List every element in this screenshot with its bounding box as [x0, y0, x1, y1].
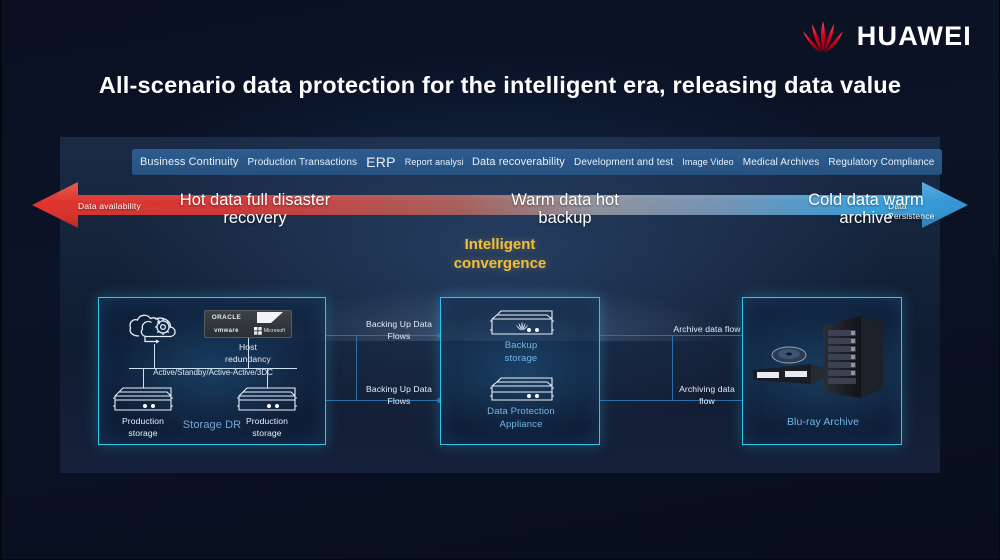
- tag-business-continuity[interactable]: Business Continuity: [140, 156, 239, 168]
- tag-medical-archives[interactable]: Medical Archives: [743, 157, 820, 168]
- tag-group-left: Business Continuity Production Transacti…: [132, 149, 476, 175]
- band-segment-warm: Warm data hot backup: [480, 191, 650, 227]
- slide-canvas: HUAWEI All-scenario data protection for …: [0, 0, 1000, 560]
- archive-rack-icon: [821, 316, 885, 398]
- vendor-logo-microsoft: Microsoft: [248, 324, 291, 337]
- label-blu-ray-archive: Blu-ray Archive: [761, 416, 885, 429]
- backup-storage-line1: Backup: [505, 340, 538, 351]
- vendor-logo-box: ORACLE vmware: [204, 310, 292, 338]
- connector-left-vertical: [356, 335, 357, 400]
- wire-vendor-down: [248, 338, 249, 368]
- sap-icon: [257, 312, 283, 323]
- huawei-brand-logo: HUAWEI: [801, 18, 972, 54]
- blu-ray-drive-icon: [753, 364, 825, 386]
- band-warm-line1: Warm data hot: [511, 191, 619, 209]
- intelligent-convergence-label: Intelligent convergence: [60, 235, 940, 273]
- label-backup-flow-top: Backing Up Data Flows: [360, 319, 438, 342]
- label-backup-flow-bottom: Backing Up Data Flows: [360, 384, 438, 407]
- cloud-gear-icon: [125, 310, 183, 344]
- band-warm-line2: backup: [538, 209, 591, 227]
- archiving-line2: flow: [699, 396, 715, 406]
- backup-bottom-line1: Backing Up Data: [366, 384, 432, 394]
- prod-left-line1: Production: [122, 416, 164, 426]
- backup-storage-line2: storage: [505, 353, 538, 364]
- convergence-line1: Intelligent: [465, 236, 536, 253]
- tag-development-and-test[interactable]: Development and test: [574, 157, 673, 168]
- band-segment-cold: Cold data warm archive: [776, 191, 956, 227]
- page-title: All-scenario data protection for the int…: [0, 72, 1000, 99]
- tag-production-transactions[interactable]: Production Transactions: [248, 157, 358, 168]
- prod-left-line2: storage: [128, 428, 157, 438]
- panel-archive-site: Blu-ray Archive: [742, 297, 902, 445]
- band-hot-line2: recovery: [223, 209, 286, 227]
- data-protection-appliance-icon: [487, 376, 557, 404]
- band-cold-line2: archive: [839, 209, 892, 227]
- label-data-protection-appliance: Data Protection Appliance: [455, 406, 587, 431]
- brand-name: HUAWEI: [857, 21, 972, 52]
- band-segment-hot: Hot data full disaster recovery: [160, 191, 350, 227]
- dpa-line2: Appliance: [499, 419, 542, 430]
- band-hot-line1: Hot data full disaster: [180, 191, 330, 209]
- tag-data-recoverability[interactable]: Data recoverability: [472, 156, 565, 168]
- band-cold-line1: Cold data warm: [808, 191, 924, 209]
- backup-bottom-line2: Flows: [388, 396, 411, 406]
- tag-image-video[interactable]: Image Video: [682, 157, 733, 167]
- band-tip-data-availability: Data availability: [78, 201, 141, 211]
- tag-group-right: Data recoverability Development and test…: [464, 149, 942, 175]
- diagram-board: Business Continuity Production Transacti…: [60, 137, 940, 473]
- backup-top-line1: Backing Up Data: [366, 319, 432, 329]
- label-archive-data-flow: Archive data flow: [662, 324, 752, 336]
- archiving-line1: Archiving data: [679, 384, 735, 394]
- vendor-logo-oracle: ORACLE: [205, 311, 248, 324]
- label-production-storage-left: Production storage: [107, 416, 179, 439]
- vendor-logo-vmware: vmware: [205, 324, 248, 337]
- architecture-diagram: Backing Up Data Flows Backing Up Data Fl…: [60, 287, 940, 473]
- convergence-line2: convergence: [454, 255, 547, 272]
- vendor-logo-sap: [248, 311, 291, 324]
- tag-report-analysis[interactable]: Report analysis: [405, 157, 469, 167]
- wire-cloud-down: [154, 344, 155, 368]
- microsoft-squares-icon: [254, 327, 262, 335]
- prod-right-line2: storage: [252, 428, 281, 438]
- blu-ray-disc-icon: [771, 346, 807, 364]
- label-backup-storage: Backup storage: [471, 340, 571, 365]
- panel-production-site: ORACLE vmware: [98, 297, 326, 445]
- scenario-tag-row: Business Continuity Production Transacti…: [72, 149, 928, 175]
- label-archiving-data-flow: Archiving data flow: [668, 384, 746, 407]
- tag-regulatory-compliance[interactable]: Regulatory Compliance: [828, 157, 934, 168]
- prod-right-line1: Production: [246, 416, 288, 426]
- label-production-storage-right: Production storage: [231, 416, 303, 439]
- huawei-flower-logo-icon: [801, 18, 845, 54]
- production-storage-right-icon: [235, 386, 299, 414]
- label-replication-modes: Active/Standby/Active-Active/3DC: [129, 368, 297, 377]
- production-storage-left-icon: [111, 386, 175, 414]
- dpa-line1: Data Protection: [487, 406, 555, 417]
- tag-erp[interactable]: ERP: [366, 154, 396, 170]
- backup-storage-icon: [487, 308, 557, 338]
- backup-top-line2: Flows: [388, 331, 411, 341]
- panel-backup-site: Backup storage Data Prote: [440, 297, 600, 445]
